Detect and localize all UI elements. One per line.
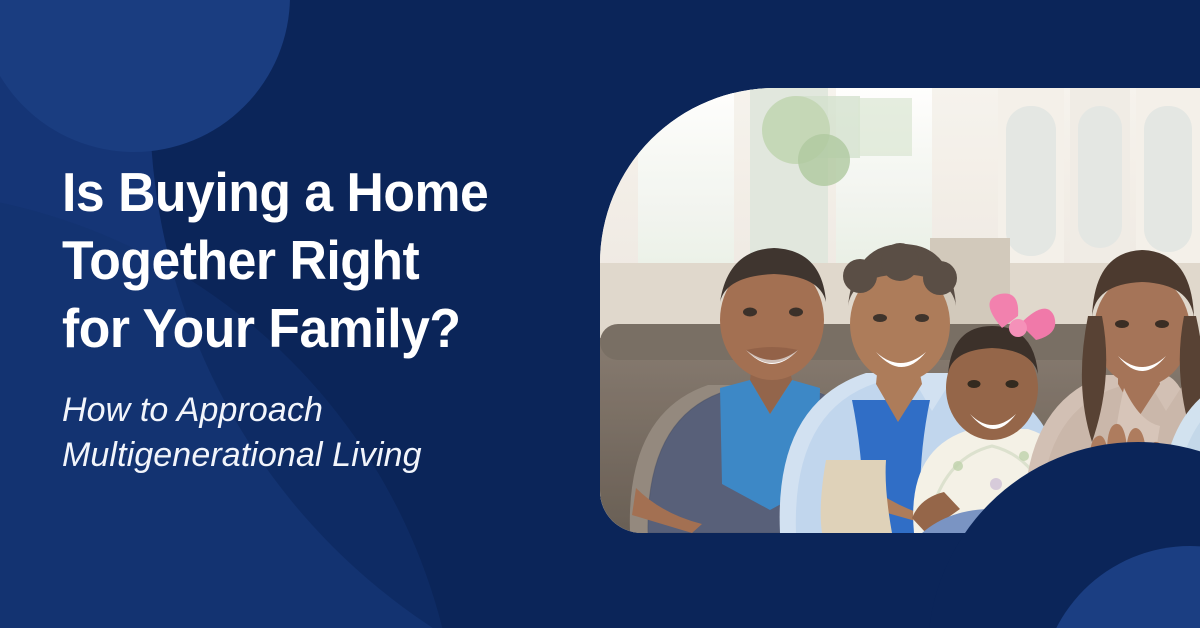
promo-banner: Is Buying a Home Together Right for Your… — [0, 0, 1200, 628]
text-block: Is Buying a Home Together Right for Your… — [62, 158, 582, 478]
subheadline: How to Approach Multigenerational Living — [62, 388, 582, 478]
headline: Is Buying a Home Together Right for Your… — [62, 158, 551, 362]
